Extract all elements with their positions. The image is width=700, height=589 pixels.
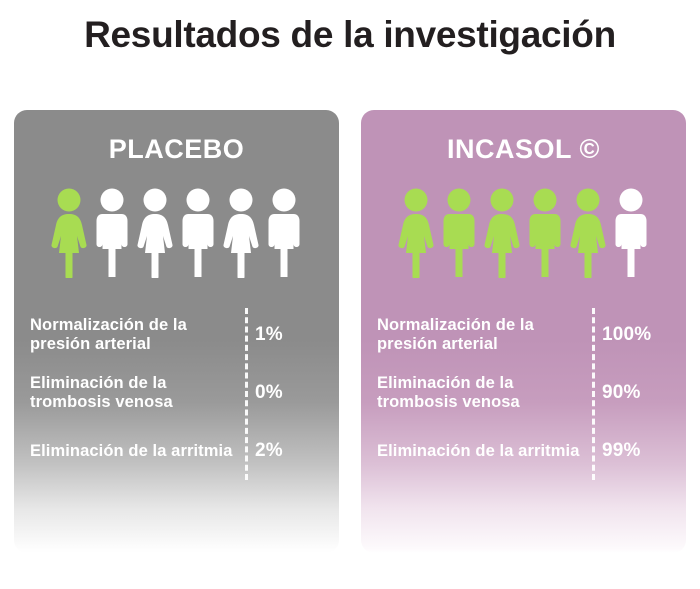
stat-row: Eliminación de la arritmia 2% <box>30 422 323 480</box>
stats-placebo: Normalización de la presión arterial 1% … <box>14 306 339 481</box>
person-figure-female-green <box>395 187 437 279</box>
stats-incasol: Normalización de la presión arterial 100… <box>361 306 686 481</box>
stat-row: Normalización de la presión arterial 1% <box>30 306 323 364</box>
person-figure-female-green <box>48 187 90 279</box>
person-figure-female-white <box>134 187 176 279</box>
person-figure-female-green <box>481 187 523 279</box>
stat-row: Eliminación de la trombosis venosa 0% <box>30 364 323 422</box>
stat-row: Eliminación de la trombosis venosa 90% <box>377 364 670 422</box>
person-figure-female-green <box>567 187 609 279</box>
person-figure-male-white <box>177 187 219 279</box>
person-figure-male-green <box>524 187 566 279</box>
page-title: Resultados de la investigación <box>0 14 700 56</box>
stat-label: Eliminación de la trombosis venosa <box>377 374 582 412</box>
stat-value: 100% <box>582 324 670 346</box>
stat-value: 90% <box>582 382 670 404</box>
panel-heading-placebo: PLACEBO <box>14 134 339 165</box>
stat-label: Eliminación de la arritmia <box>377 442 582 461</box>
person-figure-male-white <box>610 187 652 279</box>
panel-placebo: PLACEBO <box>14 110 339 553</box>
stat-value: 1% <box>235 324 323 346</box>
person-figure-male-green <box>438 187 480 279</box>
stat-label: Eliminación de la arritmia <box>30 442 235 461</box>
stat-value: 2% <box>235 440 323 462</box>
infographic-root: Resultados de la investigación PLACEBO <box>0 0 700 589</box>
panel-incasol: INCASOL © <box>361 110 686 553</box>
pictogram-placebo <box>14 179 339 279</box>
person-figure-male-white <box>91 187 133 279</box>
person-figure-female-white <box>220 187 262 279</box>
stat-label: Normalización de la presión arterial <box>377 316 582 354</box>
person-figure-male-white <box>263 187 305 279</box>
stat-label: Normalización de la presión arterial <box>30 316 235 354</box>
pictogram-incasol <box>361 179 686 279</box>
panel-heading-incasol: INCASOL © <box>361 134 686 165</box>
stat-row: Normalización de la presión arterial 100… <box>377 306 670 364</box>
stat-value: 0% <box>235 382 323 404</box>
stat-value: 99% <box>582 440 670 462</box>
stat-label: Eliminación de la trombosis venosa <box>30 374 235 412</box>
stat-row: Eliminación de la arritmia 99% <box>377 422 670 480</box>
